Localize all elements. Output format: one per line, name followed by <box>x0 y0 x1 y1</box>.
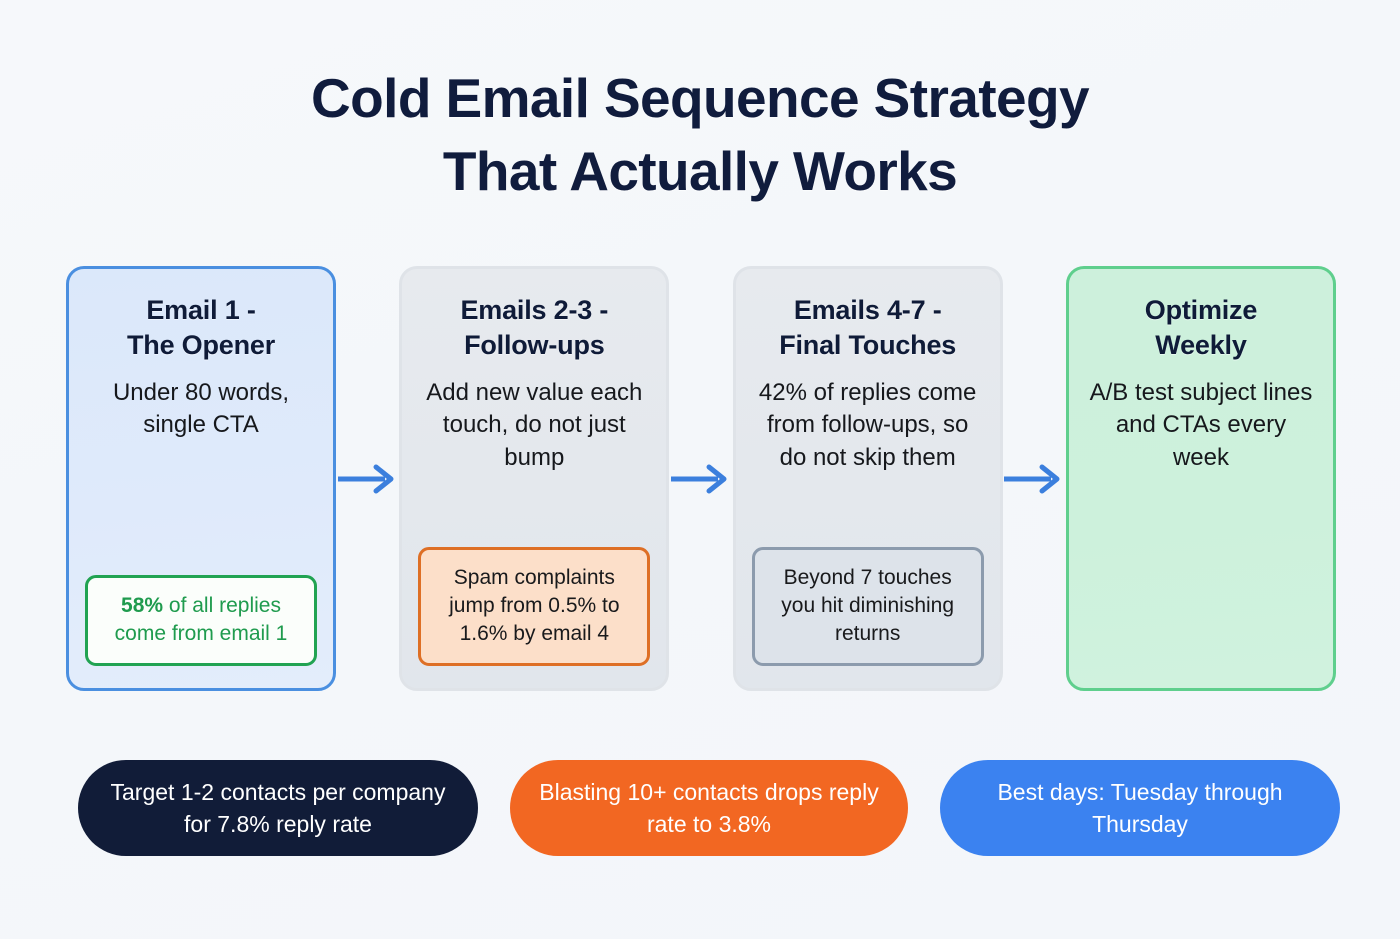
step-heading-line-2: The Opener <box>127 328 275 363</box>
key-takeaways-row: Target 1-2 contacts per company for 7.8%… <box>78 760 1340 856</box>
step-badge-slot: 58% of all replies come from email 1 <box>85 575 317 666</box>
step-heading-line-2: Follow-ups <box>460 328 608 363</box>
arrow-step1-to-step2-icon <box>337 462 399 496</box>
arrow-gap-1 <box>336 266 399 691</box>
step-stat-badge: Beyond 7 touches you hit diminishing ret… <box>752 547 984 666</box>
step-card-optimize-weekly[interactable]: Optimize Weekly A/B test subject lines a… <box>1066 266 1336 691</box>
takeaway-pill-blasting[interactable]: Blasting 10+ contacts drops reply rate t… <box>510 760 908 856</box>
page-title-line-2: That Actually Works <box>0 135 1400 208</box>
step-heading: Emails 4-7 - Final Touches <box>779 293 956 363</box>
takeaway-pill-best-days[interactable]: Best days: Tuesday through Thursday <box>940 760 1340 856</box>
step-heading-line-1: Email 1 - <box>127 293 275 328</box>
infographic-canvas: Cold Email Sequence Strategy That Actual… <box>0 0 1400 939</box>
step-description: A/B test subject lines and CTAs every we… <box>1085 377 1317 473</box>
step-stat-badge: 58% of all replies come from email 1 <box>85 575 317 666</box>
arrow-gap-3 <box>1003 266 1066 691</box>
step-card-email-1[interactable]: Email 1 - The Opener Under 80 words, sin… <box>66 266 336 691</box>
arrow-step3-to-step4-icon <box>1003 462 1065 496</box>
step-heading: Emails 2-3 - Follow-ups <box>460 293 608 363</box>
step-badge-slot: Beyond 7 touches you hit diminishing ret… <box>752 547 984 666</box>
page-title-line-1: Cold Email Sequence Strategy <box>0 62 1400 135</box>
step-card-emails-2-3[interactable]: Emails 2-3 - Follow-ups Add new value ea… <box>399 266 669 691</box>
step-badge-slot: Spam complaints jump from 0.5% to 1.6% b… <box>418 547 650 666</box>
step-heading: Optimize Weekly <box>1145 293 1257 363</box>
step-stat-emphasis: 58% <box>121 594 163 617</box>
step-stat-badge: Spam complaints jump from 0.5% to 1.6% b… <box>418 547 650 666</box>
arrow-step2-to-step3-icon <box>670 462 732 496</box>
sequence-steps-row: Email 1 - The Opener Under 80 words, sin… <box>66 266 1336 691</box>
step-heading-line-2: Final Touches <box>779 328 956 363</box>
step-card-emails-4-7[interactable]: Emails 4-7 - Final Touches 42% of replie… <box>733 266 1003 691</box>
takeaway-pill-targeting[interactable]: Target 1-2 contacts per company for 7.8%… <box>78 760 478 856</box>
step-heading-line-1: Emails 2-3 - <box>460 293 608 328</box>
arrow-gap-2 <box>669 266 732 691</box>
step-heading-line-1: Optimize <box>1145 293 1257 328</box>
step-description: 42% of replies come from follow-ups, so … <box>752 377 984 473</box>
step-heading-line-2: Weekly <box>1145 328 1257 363</box>
step-heading-line-1: Emails 4-7 - <box>779 293 956 328</box>
step-heading: Email 1 - The Opener <box>127 293 275 363</box>
page-title: Cold Email Sequence Strategy That Actual… <box>0 62 1400 207</box>
step-description: Add new value each touch, do not just bu… <box>418 377 650 473</box>
step-description: Under 80 words, single CTA <box>85 377 317 441</box>
